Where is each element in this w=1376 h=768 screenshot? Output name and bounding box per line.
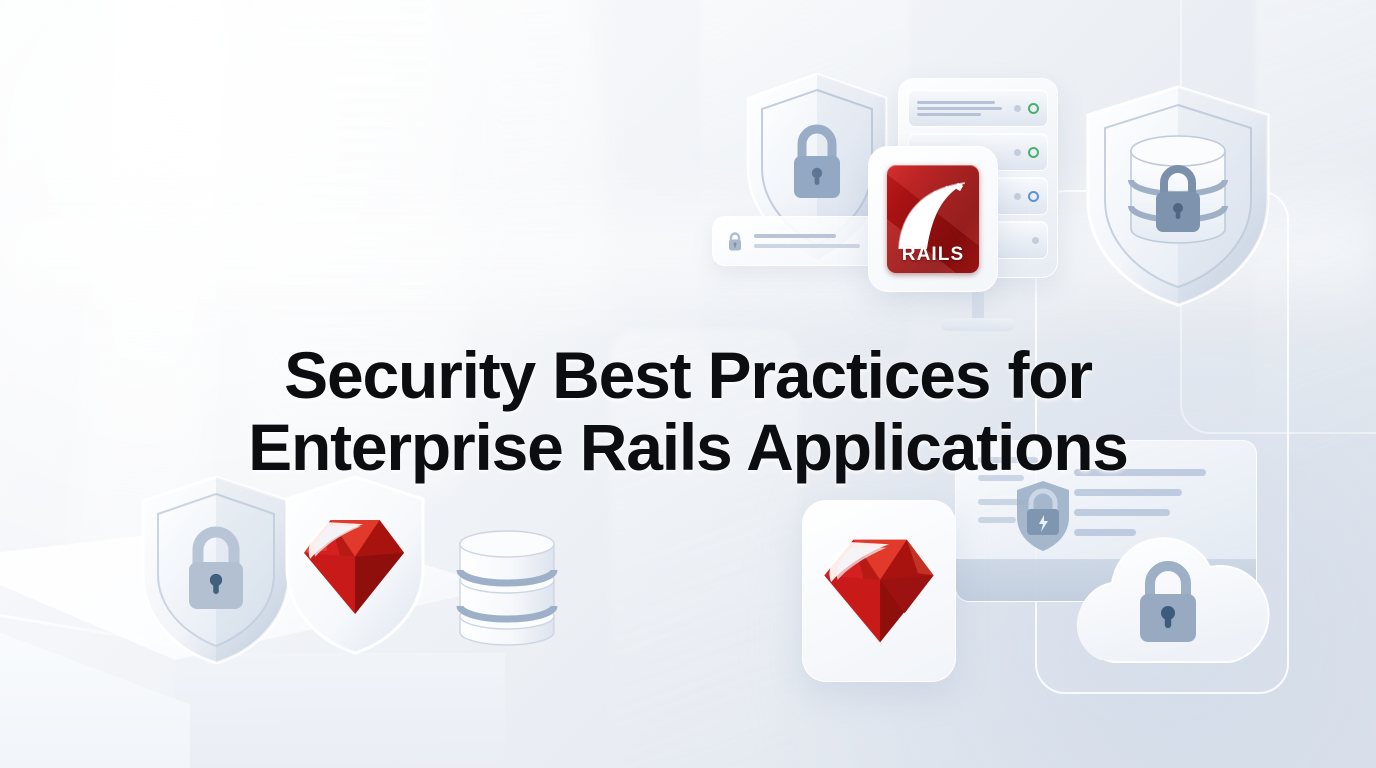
status-led-green [1028, 147, 1039, 158]
light-shaft [459, 0, 611, 343]
credential-line [754, 234, 836, 238]
rails-logo-icon: RAILS [887, 165, 979, 273]
pedestal-side [175, 653, 505, 768]
server-rack-unit [908, 89, 1048, 127]
credential-field-lines [754, 234, 874, 248]
credential-line [754, 244, 860, 248]
rails-wordmark: RAILS [887, 244, 979, 266]
shield-database-icon [1083, 84, 1273, 308]
ruby-gem-icon [820, 535, 938, 647]
hero-banner: RAILS [0, 0, 1376, 768]
server-unit-leds [1014, 147, 1039, 158]
cloud-lock-icon [1052, 530, 1292, 670]
server-rack-base [941, 318, 1015, 331]
page-title: Security Best Practices for Enterprise R… [0, 340, 1376, 484]
server-unit-leds [1014, 103, 1039, 114]
rails-logo-card: RAILS [868, 146, 998, 292]
ruby-gem-card [802, 500, 956, 682]
credential-input-card[interactable] [712, 216, 888, 266]
shield-ruby-icon [282, 474, 428, 656]
status-led-green [1028, 103, 1039, 114]
status-led-blue [1028, 191, 1039, 202]
server-unit-leds [1014, 191, 1039, 202]
server-unit-lines [917, 101, 1014, 116]
server-unit-leds [1032, 237, 1039, 244]
title-line-1: Security Best Practices for [130, 340, 1246, 412]
shield-lock-icon [138, 474, 294, 666]
database-stack-icon [452, 520, 562, 660]
lock-icon [726, 231, 744, 252]
title-line-2: Enterprise Rails Applications [130, 412, 1246, 484]
